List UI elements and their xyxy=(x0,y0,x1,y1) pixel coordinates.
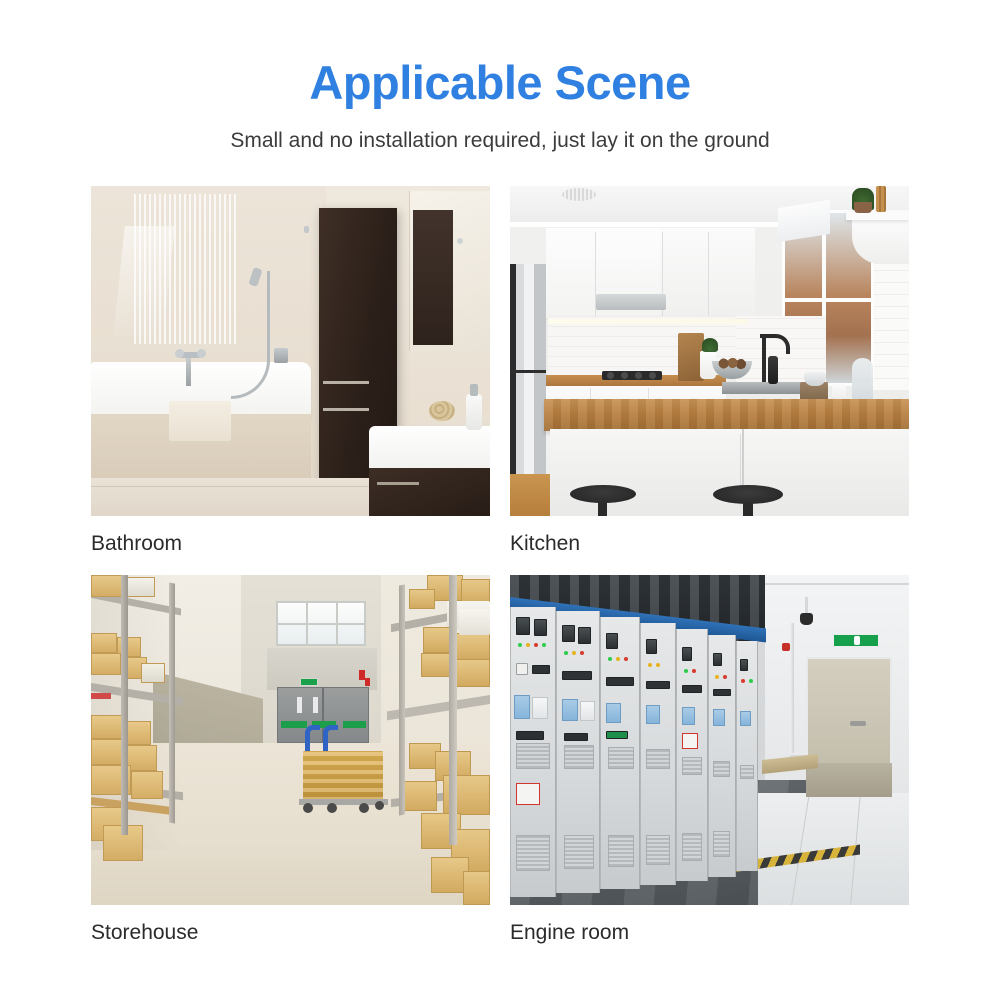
storehouse-box xyxy=(141,663,165,683)
page-title: Applicable Scene xyxy=(0,58,1000,107)
engine-room-nameplate xyxy=(564,733,588,741)
engine-room-switch-row[interactable] xyxy=(682,685,702,693)
bathroom-towel xyxy=(169,401,231,441)
engine-room-ventilation-grille xyxy=(713,831,730,857)
engine-room-ventilation-grille xyxy=(646,749,670,769)
kitchen-faucet-stem xyxy=(762,338,766,382)
engine-room-white-label xyxy=(580,701,595,721)
bathroom-washbasin xyxy=(369,426,490,474)
storehouse-box xyxy=(127,745,157,771)
storehouse-green-sign-1 xyxy=(281,721,307,728)
storehouse-fire-extinguisher-icon xyxy=(365,678,370,686)
storehouse-box xyxy=(91,715,123,739)
engine-room-switch-row[interactable] xyxy=(713,689,731,696)
scene-image-storehouse[interactable] xyxy=(91,575,490,905)
engine-room-blue-label xyxy=(514,695,530,719)
engine-room-meter-display xyxy=(740,659,748,671)
bathroom-rattan-ball xyxy=(429,401,455,421)
bathroom-vanity-handle xyxy=(377,482,419,485)
engine-room-meter-display xyxy=(562,625,575,642)
storehouse-wall-above-door xyxy=(267,648,377,690)
scene-card-bathroom[interactable]: Bathroom xyxy=(91,186,490,575)
kitchen-pendant-cord xyxy=(742,429,744,489)
storehouse-wrapped-pallet xyxy=(459,609,490,635)
bathroom-soap-pump-icon xyxy=(470,384,478,396)
storehouse-right-rack-post-1 xyxy=(449,575,457,845)
storehouse-door-push-bar-left xyxy=(297,697,302,713)
engine-room-cctv-camera-icon[interactable] xyxy=(800,613,813,625)
kitchen-timber-floor xyxy=(510,474,550,516)
engine-room-blue-label xyxy=(562,699,578,721)
scene-caption-kitchen: Kitchen xyxy=(510,516,909,575)
engine-room-meter-display xyxy=(578,627,591,644)
kitchen-ceiling-vent-icon xyxy=(562,188,596,201)
engine-room-ventilation-grille xyxy=(564,745,594,769)
scene-caption-storehouse: Storehouse xyxy=(91,905,490,964)
bathroom-tap-knob-right xyxy=(197,349,206,358)
storehouse-box xyxy=(91,575,125,597)
storehouse-door-push-bar-right xyxy=(313,697,318,713)
engine-room-white-label xyxy=(532,697,548,719)
engine-room-nameplate xyxy=(516,731,544,740)
scene-image-bathroom[interactable] xyxy=(91,186,490,516)
engine-room-ventilation-grille xyxy=(564,835,594,869)
engine-room-meter-display xyxy=(713,653,722,666)
bathroom-vanity-cabinet xyxy=(369,468,490,516)
storehouse-box xyxy=(131,771,163,799)
bathroom-mirror-reflection xyxy=(413,210,453,345)
engine-room-meter-display xyxy=(606,633,618,649)
bathroom-cup xyxy=(274,348,288,363)
engine-room-door-kickplate xyxy=(806,763,892,797)
bathroom-shower-hose xyxy=(231,271,270,399)
engine-room-blue-label xyxy=(606,703,621,723)
engine-room-switch-row[interactable] xyxy=(606,677,634,686)
kitchen-window-rail xyxy=(782,298,874,302)
kitchen-under-cabinet-light xyxy=(548,319,748,324)
storehouse-left-rack-post-2 xyxy=(169,583,175,824)
bathroom-tap-spout xyxy=(186,354,191,386)
engine-room-blue-label xyxy=(682,707,695,725)
storehouse-left-rack-post-1 xyxy=(121,575,128,835)
engine-room-ventilation-grille xyxy=(646,835,670,865)
kitchen-benchtop-grain xyxy=(544,399,909,431)
engine-room-wall-trim xyxy=(765,583,909,585)
storehouse-box xyxy=(91,633,117,653)
bathroom-tap-knob-left xyxy=(175,349,184,358)
page-header: Applicable Scene Small and no installati… xyxy=(0,0,1000,154)
engine-room-cabinet[interactable] xyxy=(736,641,758,871)
bathroom-cabinet-handle-lower xyxy=(323,408,369,411)
page-root: Applicable Scene Small and no installati… xyxy=(0,0,1000,1000)
kitchen-gas-cooktop xyxy=(602,371,662,380)
kitchen-plant-pot xyxy=(854,202,872,213)
kitchen-cabinet-divider-3 xyxy=(708,232,709,316)
engine-room-warning-sign xyxy=(682,733,698,749)
storehouse-rack-tape xyxy=(91,693,111,699)
engine-room-ventilation-grille xyxy=(740,765,754,779)
engine-room-blue-label xyxy=(713,709,725,726)
storehouse-right-rack-post-2 xyxy=(399,585,405,816)
engine-room-meter-display xyxy=(646,639,657,654)
kitchen-refrigerator-split xyxy=(510,370,546,373)
scene-caption-bathroom: Bathroom xyxy=(91,516,490,575)
scene-card-kitchen[interactable]: Kitchen xyxy=(510,186,909,575)
engine-room-door-handle-icon[interactable] xyxy=(850,721,866,726)
engine-room-ventilation-grille xyxy=(516,743,550,769)
engine-room-switchgear-lineup xyxy=(510,585,768,885)
bathroom-cabinet-handle-upper xyxy=(323,381,369,384)
kitchen-herb-icon xyxy=(702,338,718,352)
bathroom-wall-hook-icon xyxy=(304,226,309,233)
engine-room-ventilation-grille xyxy=(682,833,702,861)
scene-card-engine-room[interactable]: Engine room xyxy=(510,575,909,964)
engine-room-blue-label xyxy=(646,705,660,724)
scene-card-storehouse[interactable]: Storehouse xyxy=(91,575,490,964)
engine-room-ventilation-grille xyxy=(713,761,730,777)
kitchen-pepper-grinder xyxy=(768,356,778,384)
engine-room-ventilation-grille xyxy=(608,747,634,769)
kitchen-rangehood xyxy=(596,294,666,310)
engine-room-meter-display xyxy=(682,647,692,661)
engine-room-switch-row[interactable] xyxy=(532,665,550,674)
kitchen-bar-stool-2 xyxy=(713,485,783,504)
storehouse-window-bar-h xyxy=(276,623,366,625)
engine-room-meter-display xyxy=(534,619,547,636)
page-subtitle: Small and no installation required, just… xyxy=(0,107,1000,153)
storehouse-window-bar-v2 xyxy=(336,601,338,646)
storehouse-wrapped-pallet xyxy=(127,577,155,597)
engine-room-exit-pictogram-icon xyxy=(854,636,860,645)
storehouse-box xyxy=(453,633,490,661)
engine-room-warning-sign xyxy=(516,783,540,805)
scene-image-kitchen[interactable] xyxy=(510,186,909,516)
engine-room-blue-label xyxy=(740,711,751,726)
storehouse-green-sign-3 xyxy=(343,721,366,728)
bathroom-soap-dispenser xyxy=(466,394,482,430)
storehouse-box xyxy=(91,653,121,675)
kitchen-bar-stool-1 xyxy=(570,485,636,503)
engine-room-ventilation-grille xyxy=(682,757,702,775)
storehouse-window-bar-v1 xyxy=(306,601,308,646)
engine-room-switch-block[interactable] xyxy=(516,663,528,675)
engine-room-switch-row[interactable] xyxy=(562,671,592,680)
storehouse-trolley-load-slats xyxy=(303,751,383,801)
scene-grid: Bathroom xyxy=(91,186,909,964)
storehouse-box xyxy=(409,589,435,609)
storehouse-exit-sign-icon xyxy=(300,678,318,686)
engine-room-green-nameplate xyxy=(606,731,628,739)
engine-room-conduit-pipe xyxy=(790,623,794,758)
kitchen-rattan-basket xyxy=(876,186,886,212)
kitchen-ceramic-bowl xyxy=(804,372,826,386)
scene-image-engine-room[interactable] xyxy=(510,575,909,905)
engine-room-fire-alarm-icon[interactable] xyxy=(782,643,790,651)
scene-caption-engine-room: Engine room xyxy=(510,905,909,964)
engine-room-switch-row[interactable] xyxy=(646,681,670,689)
kitchen-fruit-icon xyxy=(718,358,746,369)
bathroom-wall-knob-icon xyxy=(457,238,463,244)
engine-room-ventilation-grille xyxy=(516,835,550,871)
storehouse-box xyxy=(403,781,437,811)
engine-room-meter-display xyxy=(516,617,530,635)
storehouse-box xyxy=(463,871,490,905)
engine-room-ventilation-grille xyxy=(608,835,634,867)
